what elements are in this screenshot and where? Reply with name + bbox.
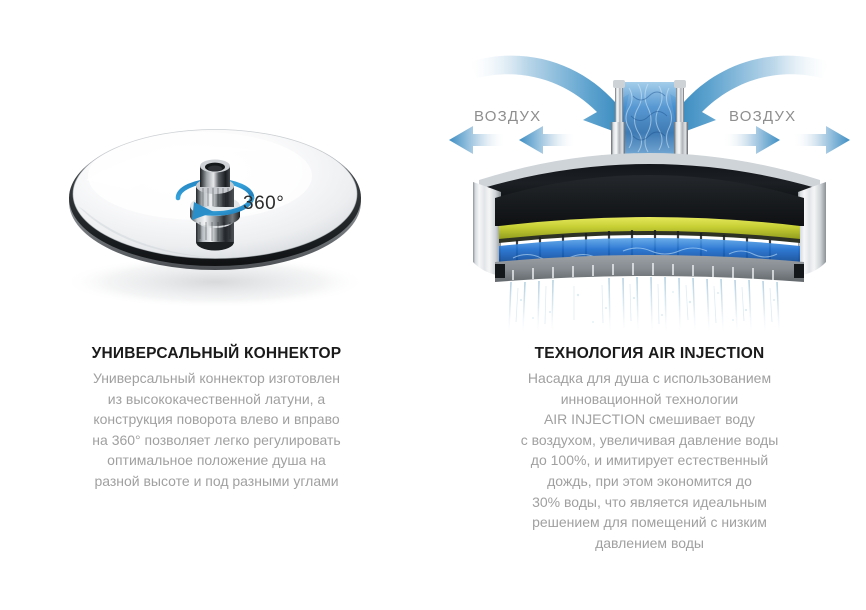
right-body-line: 30% воды, что является идеальным (532, 494, 767, 510)
left-body-line: оптимальное положение душа на (107, 452, 326, 468)
left-body-line: разной высоте и под разными углами (94, 473, 338, 489)
infographic-page: 360° УНИВЕРСАЛЬНЫЙ КОННЕКТОР Универсальн… (0, 0, 866, 610)
universal-connector-figure: 360° (0, 30, 433, 330)
air-arrow-left-outer (449, 126, 505, 154)
left-body-line: из высококачественной латуни, а (108, 391, 325, 407)
right-body-text: Насадка для душа с использованием иннова… (433, 368, 866, 553)
right-feature-column: ВОЗДУХ ВОЗДУХ ТЕХНОЛОГИЯ AIR INJECTION Н… (433, 0, 866, 610)
shower-disc-illustration: 360° (0, 30, 433, 330)
right-heading: ТЕХНОЛОГИЯ AIR INJECTION (433, 345, 866, 362)
left-body-text: Универсальный коннектор изготовлен из вы… (0, 368, 433, 491)
right-body-line: инновационной технологии (561, 391, 739, 407)
right-body-line: Насадка для душа с использованием (528, 370, 771, 386)
air-arrow-right-inner (724, 126, 780, 154)
water-spray (509, 277, 779, 330)
shower-head-body (473, 153, 826, 282)
right-body-line: AIR INJECTION смешивает воду (544, 411, 755, 427)
left-heading: УНИВЕРСАЛЬНЫЙ КОННЕКТОР (0, 345, 433, 362)
rotation-angle-label: 360° (243, 193, 284, 215)
left-feature-column: 360° УНИВЕРСАЛЬНЫЙ КОННЕКТОР Универсальн… (0, 0, 433, 610)
left-body-line: Универсальный коннектор изготовлен (93, 370, 340, 386)
left-body-line: конструкция поворота влево и вправо (93, 411, 339, 427)
right-body-line: с воздухом, увеличивая давление воды (521, 432, 779, 448)
air-arrow-right-outer (794, 126, 850, 154)
right-body-line: до 100%, и имитирует естественный (531, 452, 768, 468)
water-column (623, 82, 676, 164)
right-body-line: дождь, при этом экономится до (547, 473, 752, 489)
left-body-line: на 360° позволяет легко регулировать (92, 432, 340, 448)
right-caption: ТЕХНОЛОГИЯ AIR INJECTION Насадка для душ… (433, 345, 866, 553)
right-body-line: давлением воды (595, 535, 704, 551)
right-body-line: решением для помещений с низким (532, 514, 767, 530)
shower-disc-svg (0, 30, 433, 330)
left-caption: УНИВЕРСАЛЬНЫЙ КОННЕКТОР Универсальный ко… (0, 345, 433, 492)
air-arrow-left-inner (519, 126, 575, 154)
air-label-right: ВОЗДУХ (729, 108, 796, 125)
air-injection-figure: ВОЗДУХ ВОЗДУХ (433, 30, 866, 330)
air-injection-svg (433, 30, 866, 330)
nozzle-plate (495, 255, 804, 282)
air-label-left: ВОЗДУХ (474, 108, 541, 125)
